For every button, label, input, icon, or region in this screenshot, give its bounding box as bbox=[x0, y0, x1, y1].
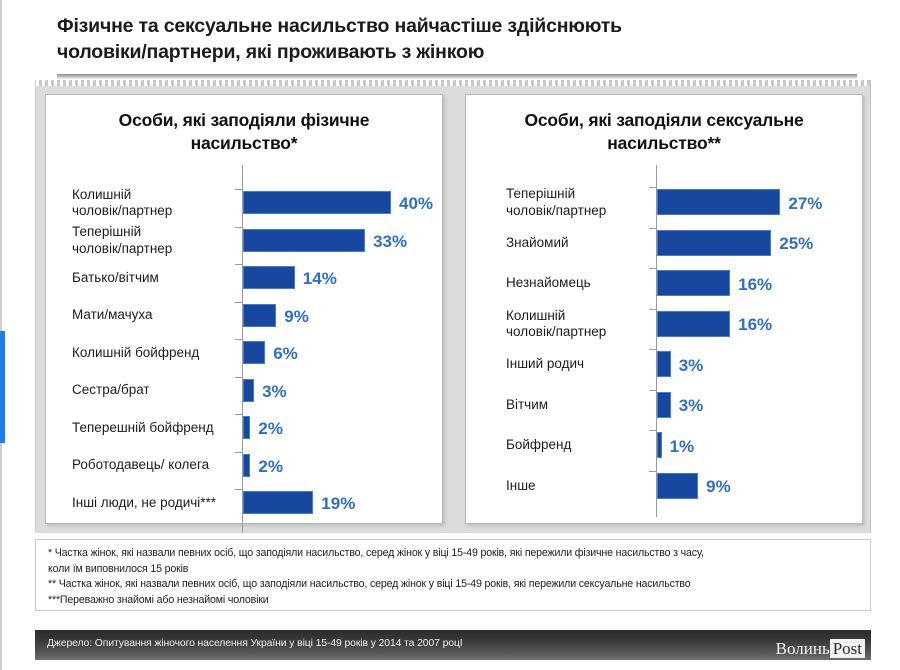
bar bbox=[243, 379, 254, 402]
bar-category-label: Інший родич bbox=[506, 356, 652, 373]
bar bbox=[657, 473, 698, 499]
bar-chart-physical: Колишній чоловік/партнер40%Теперішній чо… bbox=[46, 165, 442, 541]
bar-value-label: 1% bbox=[670, 438, 695, 455]
bar-category-label: Колишній чоловік/партнер bbox=[506, 308, 652, 341]
bar-value-label: 16% bbox=[738, 316, 772, 333]
bar-category-label: Теперішній чоловік/партнер bbox=[72, 224, 238, 257]
axis-tick bbox=[235, 452, 242, 453]
page-title: Фізичне та сексуальне насильство найчаст… bbox=[57, 13, 857, 65]
bar-category-label: Роботодавець/ колега bbox=[72, 457, 238, 474]
source-bar: Джерело: Опитування жіночого населення У… bbox=[35, 630, 871, 660]
bar-category-label: Колишній бойфренд bbox=[72, 345, 238, 362]
chart-title-sexual: Особи, які заподіяли сексуальне насильст… bbox=[490, 109, 838, 155]
bar bbox=[657, 311, 730, 337]
footnote-line: ***Переважно знайомі або незнайомі чолов… bbox=[48, 593, 860, 608]
bar bbox=[657, 270, 730, 296]
bar-value-label: 2% bbox=[258, 420, 283, 437]
bar-category-label: Вітчим bbox=[506, 397, 652, 414]
axis-tick bbox=[235, 302, 242, 303]
bar-value-label: 9% bbox=[706, 478, 731, 495]
bar bbox=[243, 416, 250, 439]
left-edge-blue-strip bbox=[0, 331, 5, 443]
axis-tick bbox=[235, 264, 242, 265]
bar bbox=[243, 191, 391, 214]
footnotes: * Частка жінок, які назвали певних осіб,… bbox=[35, 539, 871, 611]
axis-tick bbox=[235, 377, 242, 378]
bar-chart-sexual: Теперішній чоловік/партнер27%Знайомий25%… bbox=[466, 165, 862, 525]
source-text: Джерело: Опитування жіночого населення У… bbox=[47, 638, 463, 649]
bar-category-label: Сестра/брат bbox=[72, 382, 238, 399]
bar-category-label: Незнайомець bbox=[506, 275, 652, 292]
chart-panel-physical: Особи, які заподіяли фізичне насильство*… bbox=[45, 94, 443, 524]
bar bbox=[243, 229, 365, 252]
footnote-line: * Частка жінок, які назвали певних осіб,… bbox=[48, 546, 860, 561]
bar-category-label: Знайомий bbox=[506, 235, 652, 252]
bar-value-label: 6% bbox=[273, 345, 298, 362]
bar bbox=[657, 351, 671, 377]
bar-value-label: 3% bbox=[262, 383, 287, 400]
bar bbox=[657, 392, 671, 418]
bar-category-label: Бойфренд bbox=[506, 437, 652, 454]
axis-tick bbox=[649, 349, 656, 350]
chart-panel-sexual: Особи, які заподіяли сексуальне насильст… bbox=[465, 94, 863, 524]
bar bbox=[657, 230, 771, 256]
bar-value-label: 3% bbox=[679, 357, 704, 374]
bar bbox=[243, 454, 250, 477]
bar-value-label: 40% bbox=[399, 195, 433, 212]
axis-tick bbox=[649, 268, 656, 269]
footnote-line: коли їм виповнилося 15 років bbox=[48, 562, 860, 577]
bar bbox=[657, 189, 780, 215]
bar bbox=[243, 341, 265, 364]
bar-category-label: Колишній чоловік/партнер bbox=[72, 187, 238, 220]
bar bbox=[657, 432, 662, 458]
chart-axis-line bbox=[656, 165, 657, 517]
bar-value-label: 9% bbox=[284, 308, 309, 325]
bar-value-label: 33% bbox=[373, 233, 407, 250]
bar-category-label: Теперішній чоловік/партнер bbox=[506, 186, 652, 219]
title-divider bbox=[57, 74, 857, 79]
bar-value-label: 2% bbox=[258, 458, 283, 475]
footnote-line: ** Частка жінок, які назвали певних осіб… bbox=[48, 577, 860, 592]
page-title-line-1: Фізичне та сексуальне насильство найчаст… bbox=[57, 13, 857, 39]
watermark-volyn: Волинь bbox=[776, 639, 830, 658]
bar-value-label: 25% bbox=[779, 235, 813, 252]
frame-dotted-border bbox=[36, 80, 870, 86]
bar-category-label: Інше bbox=[506, 478, 652, 495]
page-title-line-2: чоловіки/партнери, які проживають з жінк… bbox=[57, 39, 857, 65]
chart-title-physical: Особи, які заподіяли фізичне насильство* bbox=[70, 109, 418, 155]
bar-value-label: 19% bbox=[321, 495, 355, 512]
watermark-logo: ВолиньPost bbox=[776, 639, 865, 659]
bar bbox=[243, 491, 313, 514]
axis-tick bbox=[649, 471, 656, 472]
axis-tick bbox=[235, 489, 242, 490]
bar-category-label: Мати/мачуха bbox=[72, 307, 238, 324]
bar-value-label: 3% bbox=[679, 397, 704, 414]
bar-value-label: 16% bbox=[738, 276, 772, 293]
bar-category-label: Батько/вітчим bbox=[72, 270, 238, 287]
axis-tick bbox=[649, 228, 656, 229]
axis-tick bbox=[649, 430, 656, 431]
bar-category-label: Теперешній бойфренд bbox=[72, 420, 238, 437]
axis-tick bbox=[649, 390, 656, 391]
bar-category-label: Інші люди, не родичі*** bbox=[72, 495, 238, 512]
watermark-post: Post bbox=[830, 639, 865, 658]
bar-value-label: 14% bbox=[303, 270, 337, 287]
axis-tick bbox=[235, 414, 242, 415]
axis-tick bbox=[235, 339, 242, 340]
bar-value-label: 27% bbox=[788, 195, 822, 212]
bar bbox=[243, 266, 295, 289]
bar bbox=[243, 304, 276, 327]
